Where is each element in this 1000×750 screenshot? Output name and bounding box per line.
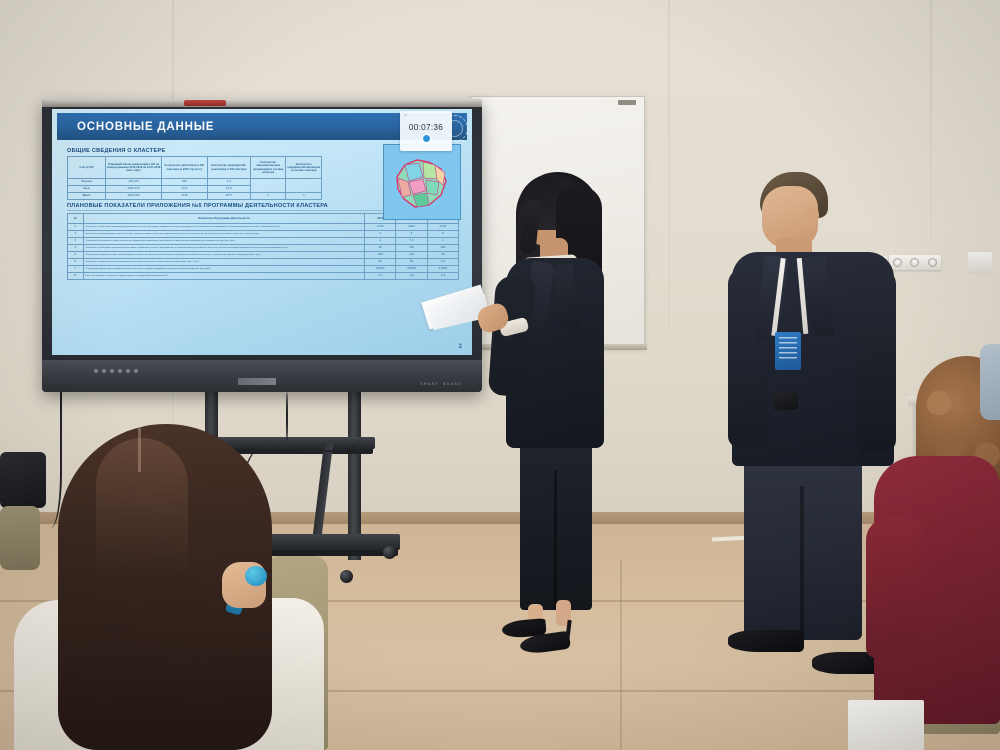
display-bottom-bezel: SMART BOARD: [42, 360, 482, 392]
cell-no: 7: [68, 266, 84, 273]
table-row: 2Количество организаций-участников класт…: [68, 231, 459, 238]
cell-workers: 1445: [161, 193, 207, 200]
cell-indicator: Совокупная выручка организаций-участнико…: [83, 266, 365, 273]
cell-indicator: Объем инвестиционных затрат организаций-…: [83, 252, 365, 259]
cell-2016: 50923: [365, 266, 396, 273]
cart-caster: [340, 570, 353, 583]
table-row: 3Объем работ и проектов в сфере научных …: [68, 238, 459, 245]
trouser-seam: [800, 486, 804, 640]
col-status: Статус ОО: [68, 157, 106, 179]
cell-2016: 1: [365, 238, 396, 245]
menu-button-icon[interactable]: [102, 369, 106, 373]
plan-table-wrapper: № Показатель Программы Деятельности 2016…: [67, 213, 459, 280]
interactive-display[interactable]: ОСНОВНЫЕ ДАННЫЕ ОБЩИЕ СВЕДЕНИЯ О КЛАСТЕР…: [42, 99, 482, 392]
cell-2016: 4: [365, 231, 396, 238]
cell-indicator: Рост объема работ и проектов в сфере нау…: [83, 273, 365, 280]
cell-investment: 195,075: [106, 179, 162, 186]
cell-partners: [286, 179, 322, 193]
cell-workers: 560: [161, 179, 207, 186]
wall-seam: [668, 0, 670, 330]
arm: [488, 275, 536, 397]
table-row: 1Численность работников организаций-учас…: [68, 224, 459, 231]
power-button-icon[interactable]: [94, 369, 98, 373]
cell-indicator: Численность работников организаций-участ…: [83, 245, 365, 252]
input-button-icon[interactable]: [126, 369, 130, 373]
col-investment: Плановый объем инвестиций в ОО на период…: [106, 157, 162, 179]
cell-2018: 67609: [427, 266, 458, 273]
cell-2018: 2745: [427, 224, 458, 231]
power-cable: [300, 426, 360, 452]
cell-no: 6: [68, 259, 84, 266]
cluster-table-wrapper: Статус ОО Плановый объем инвестиций в ОО…: [67, 156, 322, 200]
cell-no: 4: [68, 245, 84, 252]
slide-body: ОБЩИЕ СВЕДЕНИЯ О КЛАСТЕРЕ Статус ОО План…: [57, 140, 467, 352]
table-row: 5Объем инвестиционных затрат организаций…: [68, 252, 459, 259]
col-indicator: Показатель Программы Деятельности: [83, 214, 365, 224]
cell-no: 2: [68, 231, 84, 238]
chair: [0, 506, 40, 570]
cell-no: 1: [68, 224, 84, 231]
cell-2018: 2,4: [427, 273, 458, 280]
wall-socket-strip: [889, 255, 941, 270]
display-top-bezel: [42, 99, 482, 107]
presentation-timer[interactable]: 21 00:07:36: [400, 111, 452, 151]
trouser-seam: [554, 470, 557, 610]
display-control-buttons[interactable]: [94, 369, 138, 373]
plan-indicators-table: № Показатель Программы Деятельности 2016…: [67, 213, 459, 280]
display-screen[interactable]: ОСНОВНЫЕ ДАННЫЕ ОБЩИЕ СВЕДЕНИЯ О КЛАСТЕР…: [52, 109, 472, 355]
regional-cluster-map: [383, 144, 461, 220]
cell-indicator: Численность работников организаций-участ…: [83, 224, 365, 231]
bag: [0, 452, 46, 508]
display-model-text: SMART BOARD: [420, 383, 462, 387]
cell-2016: 90: [365, 245, 396, 252]
map-svg-icon: [391, 151, 453, 213]
partial-person-edge: [980, 344, 1000, 420]
arm: [866, 518, 922, 658]
cell-2017: 93: [396, 259, 427, 266]
timer-record-dot-icon[interactable]: [423, 135, 430, 142]
cell-2018: 1: [427, 238, 458, 245]
wall-socket-right: [968, 252, 992, 274]
socket-outlet-icon: [893, 258, 902, 267]
cell-2016: 155: [365, 252, 396, 259]
col-partners: Количество предприятий-партнеров в соста…: [286, 157, 322, 179]
table-row: 6Выработка на одного работника организац…: [68, 259, 459, 266]
cell-edu: [250, 179, 286, 193]
cell-2016: 95: [365, 259, 396, 266]
cart-caster: [383, 546, 396, 559]
col-no: №: [68, 214, 84, 224]
display-brand-logo: [238, 378, 276, 385]
cell-2018: 140: [427, 245, 458, 252]
cell-2017: 55606: [396, 266, 427, 273]
cell-2017: 7,6: [396, 238, 427, 245]
cell-2018: 6: [427, 231, 458, 238]
paper-bag: [848, 700, 924, 750]
cell-members: 7,3: [207, 179, 250, 186]
id-badge: [775, 332, 801, 370]
hair-highlight: [96, 438, 188, 638]
dress-shoe: [728, 630, 804, 652]
hair-part: [138, 428, 141, 472]
cell-2016: 2,6: [365, 273, 396, 280]
socket-outlet-icon: [910, 258, 919, 267]
presentation-slide: ОСНОВНЫЕ ДАННЫЕ ОБЩИЕ СВЕДЕНИЯ О КЛАСТЕР…: [52, 109, 472, 355]
volume-up-button-icon[interactable]: [118, 369, 122, 373]
table-row: 4Численность работников организаций-учас…: [68, 245, 459, 252]
cell-no: 5: [68, 252, 84, 259]
cell-2018: 4,5: [427, 259, 458, 266]
cell-status: Всего: [68, 193, 106, 200]
wall-seam: [930, 0, 932, 240]
cell-indicator: Выработка на одного работника организаци…: [83, 259, 365, 266]
cell-investment: 1646,050: [106, 193, 162, 200]
table-row: Якорные 195,075 560 7,3: [68, 179, 322, 186]
col-edu-orgs: Количество образовательных организаций в…: [250, 157, 286, 179]
belt-pouch: [773, 392, 798, 410]
pen-cap: [245, 566, 267, 586]
whiteboard-clip: [618, 100, 636, 105]
slide-title: ОСНОВНЫЕ ДАННЫЕ: [77, 121, 214, 133]
power-cable: [286, 392, 288, 442]
col-members: Количество предприятий-участников в ОО к…: [207, 157, 250, 179]
cluster-table: Статус ОО Плановый объем инвестиций в ОО…: [67, 156, 322, 200]
cell-members: 4077: [207, 193, 250, 200]
red-marker-sticker-icon: [184, 100, 226, 106]
table-header-row: Статус ОО Плановый объем инвестиций в ОО…: [68, 157, 322, 179]
cell-2017: 2460: [396, 224, 427, 231]
socket-outlet-icon: [928, 258, 937, 267]
volume-down-button-icon[interactable]: [110, 369, 114, 373]
cell-2016: 1215: [365, 224, 396, 231]
timer-small-label: 21: [404, 113, 407, 117]
table-row: 8Рост объема работ и проектов в сфере на…: [68, 273, 459, 280]
cell-partners: 3: [286, 193, 322, 200]
floor-seam: [620, 560, 622, 750]
col-workers: Количество работников в ОО кластера за 2…: [161, 157, 207, 179]
cell-investment: 1450,975: [106, 186, 162, 193]
cell-indicator: Объем работ и проектов в сфере научных и…: [83, 238, 365, 245]
cell-status: Якорные: [68, 179, 106, 186]
cell-indicator: Количество организаций-участников класте…: [83, 231, 365, 238]
cell-no: 8: [68, 273, 84, 280]
cell-edu: 1: [250, 193, 286, 200]
slide-page-number: 2: [459, 344, 462, 350]
cell-no: 3: [68, 238, 84, 245]
presentation-room-scene: ОСНОВНЫЕ ДАННЫЕ ОБЩИЕ СВЕДЕНИЯ О КЛАСТЕР…: [0, 0, 1000, 750]
table-row: 7Совокупная выручка организаций-участник…: [68, 266, 459, 273]
home-button-icon[interactable]: [134, 369, 138, 373]
cell-2017: 4: [396, 231, 427, 238]
cell-2017: 1,8: [396, 273, 427, 280]
cell-2017: 125: [396, 252, 427, 259]
cell-members: 31,5: [207, 186, 250, 193]
timer-value: 00:07:36: [409, 123, 443, 132]
arm: [856, 268, 896, 452]
ear: [806, 206, 819, 224]
cell-2017: 115: [396, 245, 427, 252]
cell-2018: 45: [427, 252, 458, 259]
table-row-total: Всего 1646,050 1445 4077 1 3: [68, 193, 322, 200]
cell-workers: 15,4: [161, 186, 207, 193]
cell-status: Иные: [68, 186, 106, 193]
